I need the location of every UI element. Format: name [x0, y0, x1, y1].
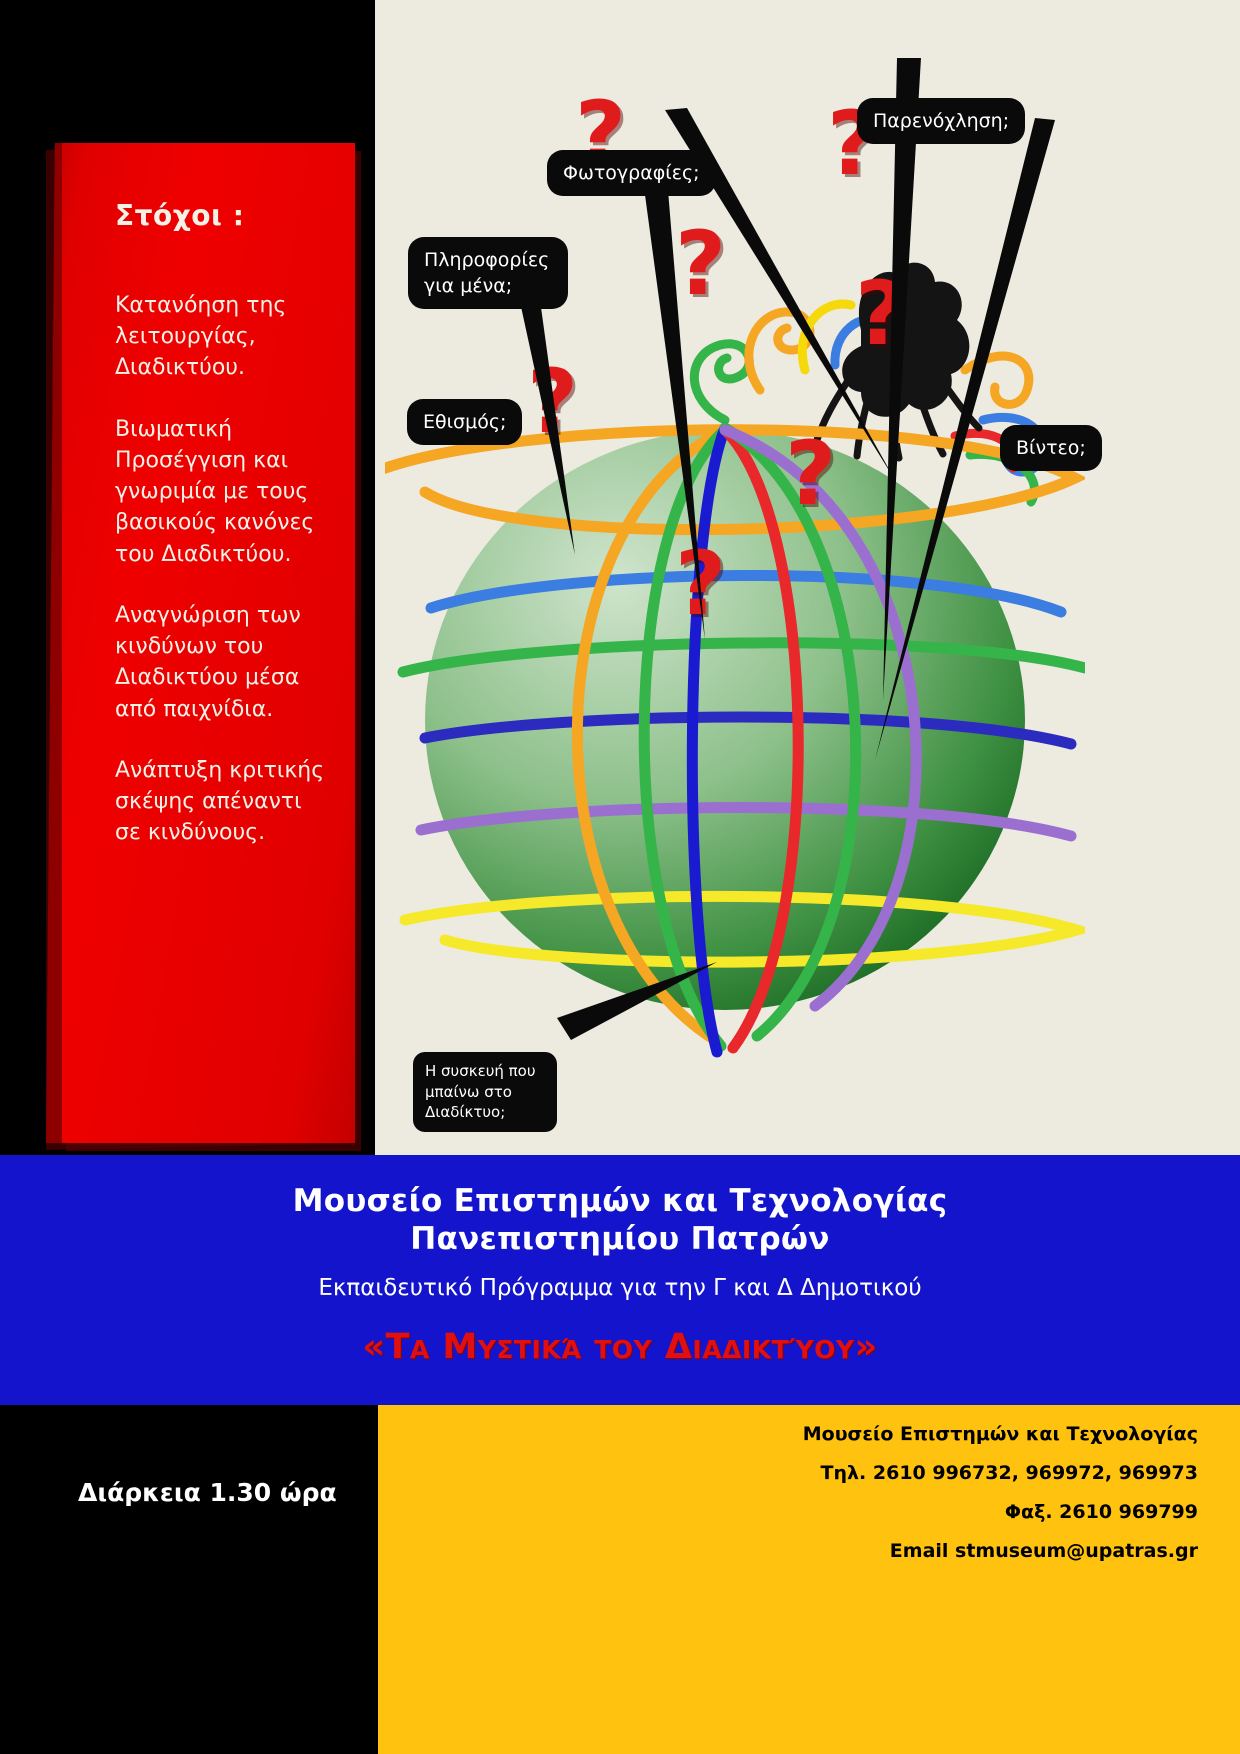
blue-banner: Μουσείο Επιστημών και Τεχνολογίας Πανεπι… — [0, 1155, 1240, 1405]
goal-item-1: Κατανόηση της λειτουργίας, Διαδικτύου. — [115, 290, 325, 384]
bubble-fotografies[interactable]: Φωτογραφίες; — [547, 150, 716, 196]
goals-panel: Στόχοι : Κατανόηση της λειτουργίας, Διαδ… — [60, 143, 355, 1143]
organization-line-2: Πανεπιστημίου Πατρών — [0, 1221, 1240, 1259]
bubble-vinteo[interactable]: Βίντεο; — [1000, 425, 1102, 471]
bubble-plirofories[interactable]: Πληροφορίες για μένα; — [408, 237, 568, 309]
contact-line-email[interactable]: Email stmuseum@upatras.gr — [558, 1532, 1198, 1571]
goals-title: Στόχοι : — [115, 199, 325, 232]
duration-label: Διάρκεια 1.30 ώρα — [78, 1478, 337, 1507]
artwork-panel: ? ? ? ? ? ? ? Παρενόχληση; Φωτογραφίες; … — [375, 0, 1240, 1155]
contact-line-museum: Μουσείο Επιστημών και Τεχνολογίας — [558, 1415, 1198, 1454]
organization-line-1: Μουσείο Επιστημών και Τεχνολογίας — [0, 1183, 1240, 1221]
goal-item-4: Ανάπτυξη κριτικής σκέψης απέναντι σε κιν… — [115, 755, 325, 849]
bubble-parenochlisi[interactable]: Παρενόχληση; — [857, 98, 1025, 144]
contact-details: Μουσείο Επιστημών και Τεχνολογίας Τηλ. 2… — [558, 1415, 1198, 1571]
footer-left-block — [0, 1405, 378, 1754]
goal-item-2: Βιωματική Προσέγγιση και γνωριμία με του… — [115, 414, 325, 570]
poster-root: ? ? ? ? ? ? ? Παρενόχληση; Φωτογραφίες; … — [0, 0, 1240, 1754]
bubble-pointer-lines — [375, 0, 1240, 1155]
goal-item-3: Αναγνώριση των κινδύνων του Διαδικτύου μ… — [115, 600, 325, 725]
program-title: «Τα Μυστικά του Διαδικτύου» — [0, 1327, 1240, 1367]
pointer-ethismos — [520, 300, 575, 555]
pointer-plirofories — [643, 178, 705, 640]
pointer-syskevi — [557, 962, 717, 1040]
bubble-syskevi[interactable]: Η συσκευή που μπαίνω στο Διαδίκτυο; — [413, 1052, 557, 1132]
program-description: Εκπαιδευτικό Πρόγραμμα για την Γ και Δ Δ… — [0, 1275, 1240, 1301]
contact-line-fax: Φαξ. 2610 969799 — [558, 1493, 1198, 1532]
contact-line-phone: Τηλ. 2610 996732, 969972, 969973 — [558, 1454, 1198, 1493]
bubble-ethismos[interactable]: Εθισμός; — [407, 399, 522, 445]
